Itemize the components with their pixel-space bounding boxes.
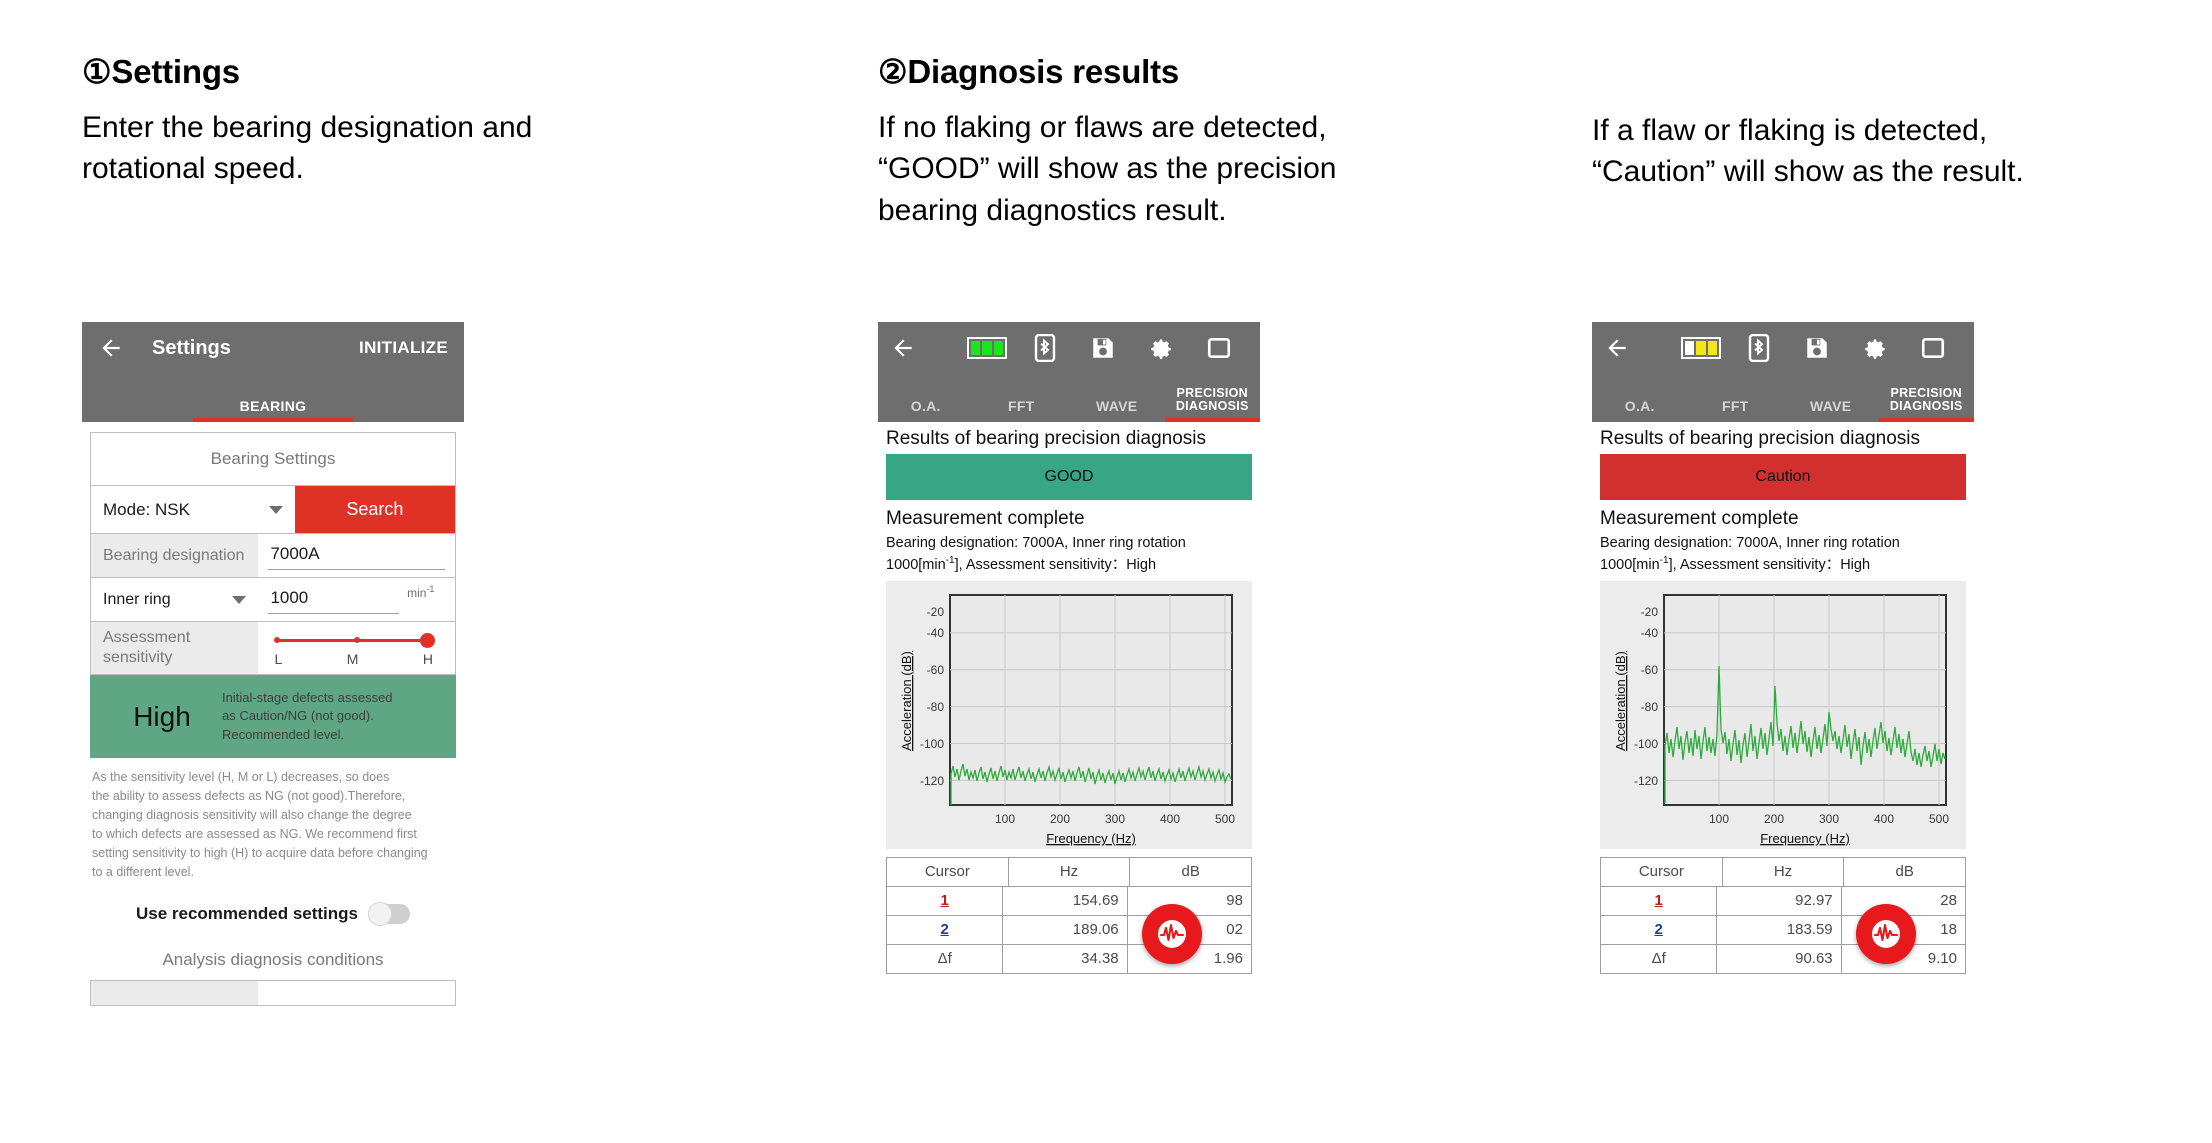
measurement-status: Measurement complete [878,500,1260,532]
svg-text:-120: -120 [1634,774,1658,788]
caution-cursor-table: Cursor Hz dB 1 92.97 28 2 183.59 18 Δf 9… [1600,857,1966,974]
cursor-2-label[interactable]: 2 [887,916,1003,944]
svg-text:-80: -80 [927,700,945,714]
recommended-settings-toggle[interactable] [368,904,410,924]
rotation-speed-input[interactable]: 1000 [268,586,399,614]
slider-tick-label-m: M [347,651,359,667]
column-1-header: ①Settings Enter the bearing designation … [82,52,532,190]
recommended-settings-row: Use recommended settings [82,904,464,924]
stop-square-icon[interactable] [1190,335,1248,361]
tab-wave[interactable]: WAVE [1783,399,1879,422]
slider-tick-label-h: H [423,651,433,667]
bluetooth-icon[interactable] [1730,334,1788,362]
settings-appbar: Settings INITIALIZE BEARING [82,322,464,422]
svg-text:200: 200 [1764,812,1784,826]
measurement-status: Measurement complete [1592,500,1974,532]
measurement-detail-line-2: 1000[min-1], Assessment sensitivity：High [878,553,1260,575]
caution-tab-row: O.A. FFT WAVE PRECISIONDIAGNOSIS [1592,374,1974,422]
page-title: Settings [152,337,231,360]
caution-appbar: O.A. FFT WAVE PRECISIONDIAGNOSIS [1592,322,1974,422]
col-header-cursor: Cursor [1601,858,1723,886]
delta-f-label: Δf [887,945,1003,973]
slider-track-line [276,639,429,642]
gear-icon[interactable] [1132,335,1190,361]
tab-active-underline [1165,418,1260,422]
signal-bars-icon [958,337,1016,359]
bearing-designation-row: Bearing designation 7000A [91,533,455,577]
good-spectrum-svg: -20-40-60 -80-100-120 100200300 400500 A… [886,581,1252,849]
column-2-title: ②Diagnosis results [878,52,1336,91]
column-3-description: If a flaw or flaking is detected, “Cauti… [1592,110,2024,193]
mode-dropdown[interactable]: Mode: NSK [103,500,295,520]
sensitivity-label: Assessment sensitivity [91,622,258,674]
caution-result-body: Results of bearing precision diagnosis C… [1592,422,1974,974]
tab-fft[interactable]: FFT [1688,399,1784,422]
stub-cell-right [258,981,455,1005]
svg-text:100: 100 [1709,812,1729,826]
search-button[interactable]: Search [295,486,455,533]
bearing-designation-label: Bearing designation [91,534,258,577]
ring-type-label: Inner ring [103,590,171,610]
ring-type-dropdown[interactable]: Inner ring [91,578,258,621]
col-header-cursor: Cursor [887,858,1009,886]
tab-oa[interactable]: O.A. [1592,399,1688,422]
column-2-header: ②Diagnosis results If no flaking or flaw… [878,52,1336,231]
back-arrow-icon[interactable] [98,335,124,361]
col-header-db: dB [1130,858,1251,886]
svg-text:200: 200 [1050,812,1070,826]
delta-f-hz: 90.63 [1717,945,1841,973]
cursor-2-label[interactable]: 2 [1601,916,1717,944]
chevron-down-icon [232,596,246,604]
measurement-detail-line-1: Bearing designation: 7000A, Inner ring r… [878,532,1260,553]
gear-icon[interactable] [1846,335,1904,361]
back-arrow-icon[interactable] [890,335,916,361]
bearing-designation-input[interactable]: 7000A [268,542,445,570]
tab-oa[interactable]: O.A. [878,399,974,422]
back-arrow-icon[interactable] [1604,335,1630,361]
toggle-knob [368,902,392,926]
column-3-header: If a flaw or flaking is detected, “Cauti… [1592,110,2024,193]
bluetooth-icon[interactable] [1016,334,1074,362]
svg-text:-80: -80 [1641,700,1659,714]
initialize-button[interactable]: INITIALIZE [359,338,448,358]
stop-square-icon[interactable] [1904,335,1962,361]
stub-cell-left [91,981,258,1005]
col-header-hz: Hz [1009,858,1131,886]
slider-knob[interactable] [420,633,435,648]
tab-precision-diagnosis[interactable]: PRECISIONDIAGNOSIS [1879,387,1975,423]
mode-row: Mode: NSK Search [91,485,455,533]
good-spectrum-chart: -20-40-60 -80-100-120 100200300 400500 A… [886,581,1252,849]
tab-active-underline [193,418,353,422]
verdict-badge: Caution [1600,454,1966,500]
save-icon[interactable] [1074,335,1132,361]
svg-text:100: 100 [995,812,1015,826]
svg-text:-60: -60 [927,663,945,677]
svg-text:Frequency (Hz): Frequency (Hz) [1760,831,1850,846]
caution-spectrum-chart: -20-40-60 -80-100-120 100200300 400500 A… [1600,581,1966,849]
cursor-2-hz: 183.59 [1717,916,1841,944]
slide-page: ①Settings Enter the bearing designation … [0,0,2212,1143]
svg-text:Acceleration (dB): Acceleration (dB) [1613,651,1628,751]
rotation-row: Inner ring 1000 min-1 [91,577,455,621]
cursor-1-hz: 92.97 [1717,887,1841,915]
result-heading: Results of bearing precision diagnosis [1592,422,1974,454]
delta-f-hz: 34.38 [1003,945,1127,973]
waveform-icon [1155,917,1189,951]
cursor-1-label[interactable]: 1 [1601,887,1717,915]
sensitivity-slider[interactable]: L M H [268,632,441,669]
cursor-1-label[interactable]: 1 [887,887,1003,915]
svg-text:300: 300 [1819,812,1839,826]
cursor-1-hz: 154.69 [1003,887,1127,915]
svg-text:-20: -20 [1641,605,1659,619]
table-header-row: Cursor Hz dB [1601,858,1965,887]
sensitivity-level-box: High Initial-stage defects assessed as C… [90,675,456,758]
verdict-badge: GOOD [886,454,1252,500]
good-tab-row: O.A. FFT WAVE PRECISIONDIAGNOSIS [878,374,1260,422]
column-1-description: Enter the bearing designation and rotati… [82,107,532,190]
good-cursor-table: Cursor Hz dB 1 154.69 98 2 189.06 02 Δf … [886,857,1252,974]
analysis-conditions-heading: Analysis diagnosis conditions [82,950,464,970]
caution-spectrum-svg: -20-40-60 -80-100-120 100200300 400500 A… [1600,581,1966,849]
svg-text:-60: -60 [1641,663,1659,677]
svg-text:-20: -20 [927,605,945,619]
svg-text:-40: -40 [927,626,945,640]
analysis-conditions-table-stub [90,980,456,1006]
signal-bars-icon [1672,337,1730,359]
svg-text:Frequency (Hz): Frequency (Hz) [1046,831,1136,846]
col-header-db: dB [1844,858,1965,886]
sensitivity-row: Assessment sensitivity L M [91,621,455,674]
tab-precision-diagnosis[interactable]: PRECISIONDIAGNOSIS [1165,387,1261,423]
settings-body: Bearing Settings Mode: NSK Search Bearin… [82,432,464,1006]
column-2-description: If no flaking or flaws are detected, “GO… [878,107,1336,231]
svg-text:500: 500 [1929,812,1949,826]
svg-text:-100: -100 [1634,737,1658,751]
tab-active-underline [1879,418,1974,422]
result-heading: Results of bearing precision diagnosis [878,422,1260,454]
chevron-down-icon [269,506,283,514]
measurement-detail-line-1: Bearing designation: 7000A, Inner ring r… [1592,532,1974,553]
table-row: 1 154.69 98 [887,887,1251,916]
svg-text:-120: -120 [920,774,944,788]
tab-fft[interactable]: FFT [974,399,1070,422]
col-header-hz: Hz [1723,858,1845,886]
svg-text:300: 300 [1105,812,1125,826]
good-result-body: Results of bearing precision diagnosis G… [878,422,1260,974]
cursor-2-hz: 189.06 [1003,916,1127,944]
save-icon[interactable] [1788,335,1846,361]
settings-tab-row: BEARING [82,374,464,422]
column-1-title: ①Settings [82,52,532,91]
slider-tick-dot-l [274,637,280,643]
svg-text:500: 500 [1215,812,1235,826]
recommended-settings-label: Use recommended settings [136,904,358,924]
tab-wave[interactable]: WAVE [1069,399,1165,422]
good-appbar: O.A. FFT WAVE PRECISIONDIAGNOSIS [878,322,1260,422]
bearing-settings-card: Bearing Settings Mode: NSK Search Bearin… [90,432,456,675]
sensitivity-level-value: High [102,701,222,733]
caution-result-phone-screenshot: O.A. FFT WAVE PRECISIONDIAGNOSIS Results… [1592,322,1974,1086]
sensitivity-helper-text: As the sensitivity level (H, M or L) dec… [92,768,454,882]
table-row: 1 92.97 28 [1601,887,1965,916]
mode-label: Mode: NSK [103,500,190,520]
waveform-icon [1869,917,1903,951]
measure-fab-button[interactable] [1856,904,1916,964]
svg-text:-40: -40 [1641,626,1659,640]
slider-tick-dot-m [354,637,360,643]
rotation-unit-label: min-1 [407,582,434,600]
svg-text:Acceleration (dB): Acceleration (dB) [899,651,914,751]
svg-text:400: 400 [1874,812,1894,826]
sensitivity-level-note: Initial-stage defects assessed as Cautio… [222,689,393,744]
measurement-detail-line-2: 1000[min-1], Assessment sensitivity：High [1592,553,1974,575]
delta-f-label: Δf [1601,945,1717,973]
svg-text:400: 400 [1160,812,1180,826]
settings-phone-screenshot: Settings INITIALIZE BEARING Bearing Sett… [82,322,464,1086]
measure-fab-button[interactable] [1142,904,1202,964]
bearing-settings-heading: Bearing Settings [91,433,455,485]
table-header-row: Cursor Hz dB [887,858,1251,887]
good-result-phone-screenshot: O.A. FFT WAVE PRECISIONDIAGNOSIS Results… [878,322,1260,1086]
slider-tick-label-l: L [274,651,282,667]
svg-text:-100: -100 [920,737,944,751]
